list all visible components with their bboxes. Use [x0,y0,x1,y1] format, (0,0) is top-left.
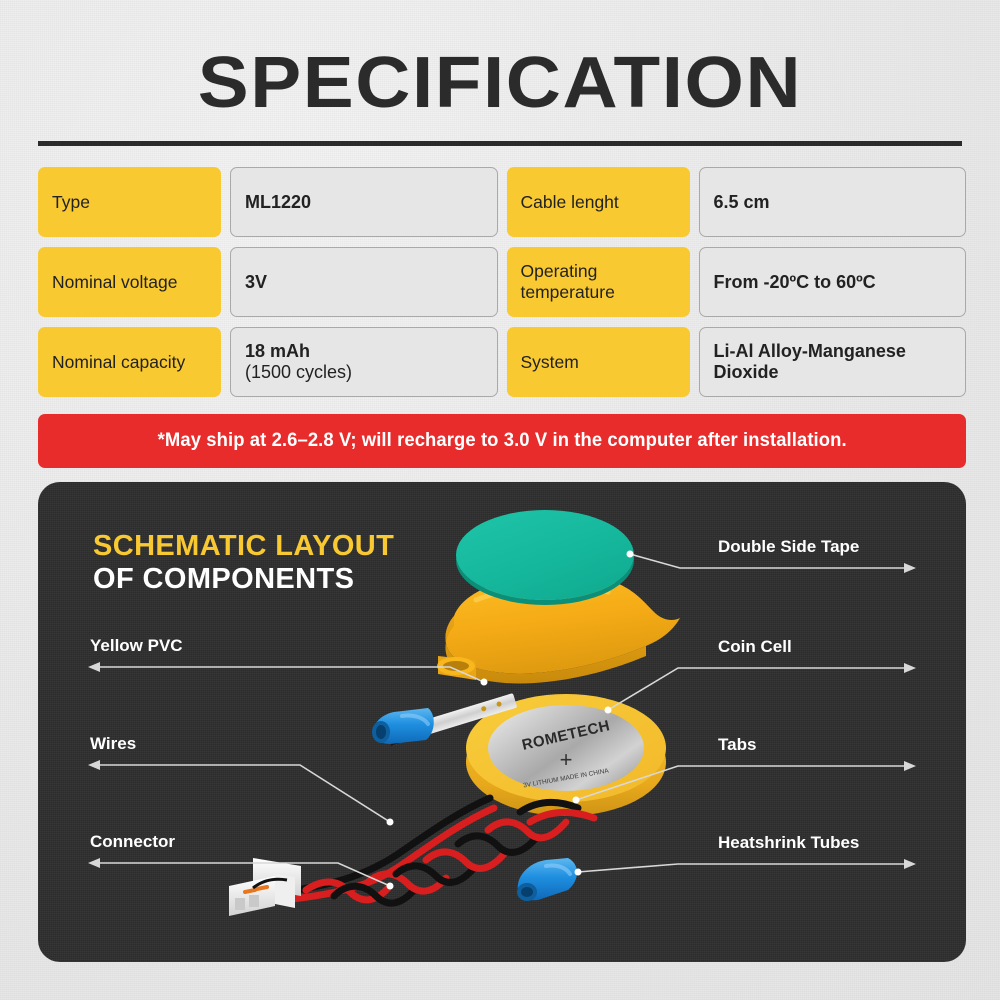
page-title: SPECIFICATION [0,46,1000,120]
spec-value-type-text: ML1220 [245,192,311,212]
shipping-voltage-note: *May ship at 2.6–2.8 V; will recharge to… [38,414,966,468]
shipping-voltage-note-text: *May ship at 2.6–2.8 V; will recharge to… [157,430,846,452]
callout-label-double-side-tape: Double Side Tape [718,537,859,557]
spec-label-operating-temperature: Operating temperature [507,247,690,317]
connector-graphic [223,852,318,922]
spec-value-system-text: Li-Al Alloy-Manganese Dioxide [714,341,906,382]
spec-value-operating-temperature: From -20ºC to 60ºC [699,247,967,317]
spec-value-nominal-capacity: 18 mAh (1500 cycles) [230,327,498,397]
schematic-heading-line1: SCHEMATIC LAYOUT [93,530,394,563]
spec-label-nominal-capacity: Nominal capacity [38,327,221,397]
callout-label-wires: Wires [90,734,136,754]
spec-label-system: System [507,327,690,397]
schematic-heading: SCHEMATIC LAYOUT OF COMPONENTS [93,530,394,596]
heatshrink-tube-lower-graphic [510,854,584,904]
spec-value-cable-length-text: 6.5 cm [714,192,770,212]
callout-label-heatshrink-tubes: Heatshrink Tubes [718,833,859,853]
double-side-tape-graphic [456,510,634,600]
spec-value-nominal-capacity-text: 18 mAh [245,341,310,361]
callout-label-yellow-pvc: Yellow PVC [90,636,183,656]
title-divider [38,141,962,146]
spec-value-nominal-voltage: 3V [230,247,498,317]
spec-label-type: Type [38,167,221,237]
schematic-panel: SCHEMATIC LAYOUT OF COMPONENTS [38,482,966,962]
spec-value-nominal-capacity-cycles: (1500 cycles) [245,362,352,383]
spec-value-system: Li-Al Alloy-Manganese Dioxide [699,327,967,397]
spec-value-cable-length: 6.5 cm [699,167,967,237]
spec-value-operating-temperature-text: From -20ºC to 60ºC [714,272,876,292]
callout-label-coin-cell: Coin Cell [718,637,792,657]
spec-label-cable-length: Cable lenght [507,167,690,237]
schematic-heading-line2: OF COMPONENTS [93,563,394,596]
callout-label-tabs: Tabs [718,735,756,755]
spec-label-nominal-voltage: Nominal voltage [38,247,221,317]
heatshrink-tube-upper-graphic [368,702,438,748]
specification-table: Type ML1220 Cable lenght 6.5 cm Nominal … [38,167,966,397]
callout-label-connector: Connector [90,832,175,852]
spec-value-type: ML1220 [230,167,498,237]
spec-value-nominal-voltage-text: 3V [245,272,267,292]
